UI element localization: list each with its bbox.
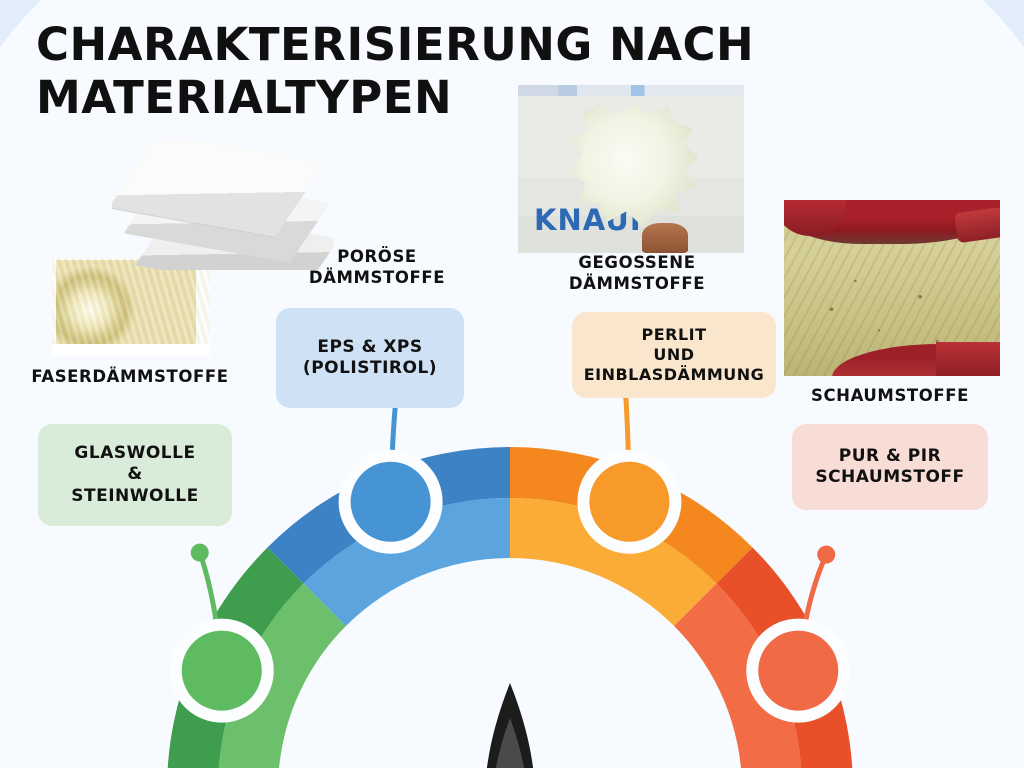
pill-perlit-einblas[interactable]: PERLITUNDEINBLASDÄMMUNG [572, 312, 776, 398]
infographic-canvas: CHARAKTERISIERUNG NACH MATERIALTYPEN KNA… [0, 0, 1024, 768]
gauge-stem-dot [191, 544, 209, 562]
gauge-chart [0, 0, 1024, 768]
gauge-needle [484, 683, 536, 768]
pill-glaswolle-steinwolle[interactable]: GLASWOLLE&STEINWOLLE [38, 424, 232, 526]
gauge-marker-bubble[interactable] [182, 631, 262, 711]
gauge-stem-dot [817, 546, 835, 564]
gauge-marker-bubble[interactable] [351, 462, 431, 542]
gauge-marker-bubble[interactable] [589, 462, 669, 542]
pill-eps-xps[interactable]: EPS & XPS(POLISTIROL) [276, 308, 464, 408]
pill-pur-pir[interactable]: PUR & PIRSCHAUMSTOFF [792, 424, 988, 510]
gauge-marker-bubble[interactable] [758, 631, 838, 711]
